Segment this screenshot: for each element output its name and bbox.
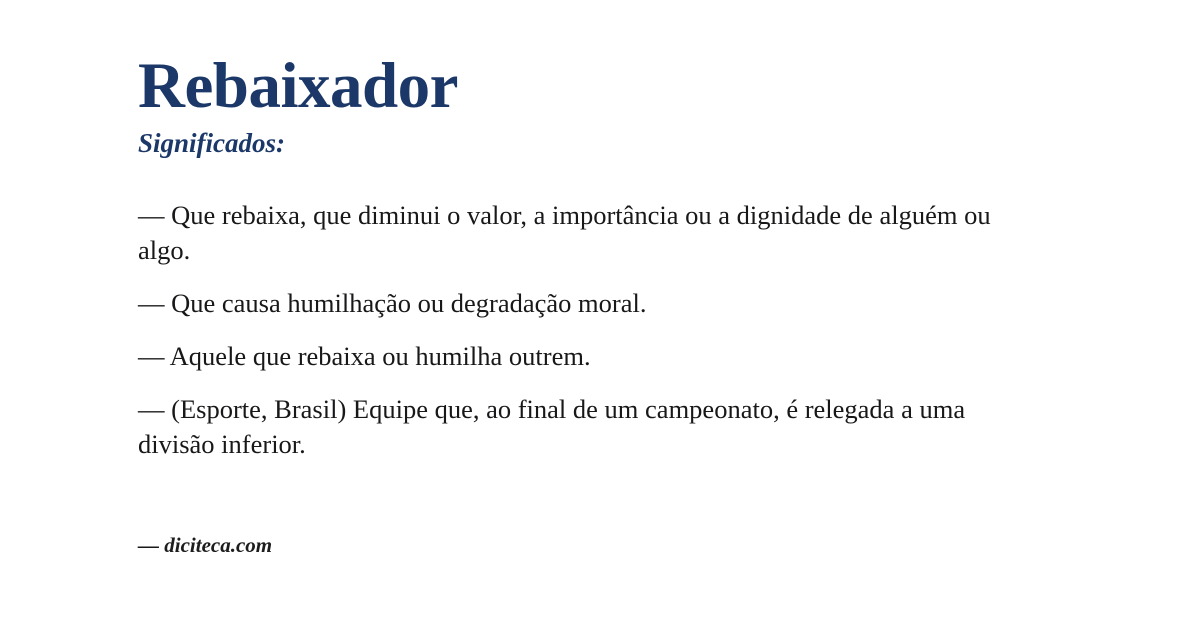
subtitle-label: Significados: <box>138 128 285 159</box>
page-title: Rebaixador <box>138 52 458 120</box>
em-dash-marker: — <box>138 394 165 424</box>
definition-text: (Esporte, Brasil) Equipe que, ao final d… <box>138 394 965 459</box>
list-item: — Que causa humilhação ou degradação mor… <box>138 286 1038 321</box>
source-name: diciteca.com <box>164 533 272 557</box>
en-dash-marker: — <box>138 533 159 557</box>
definition-text: Aquele que rebaixa ou humilha outrem. <box>170 341 591 371</box>
definition-card: Rebaixador Significados: — Que rebaixa, … <box>0 0 1200 628</box>
definition-text: Que rebaixa, que diminui o valor, a impo… <box>138 200 991 265</box>
em-dash-marker: — <box>138 288 165 318</box>
em-dash-marker: — <box>138 341 165 371</box>
em-dash-marker: — <box>138 200 165 230</box>
list-item: — Que rebaixa, que diminui o valor, a im… <box>138 198 1038 268</box>
definitions-list: — Que rebaixa, que diminui o valor, a im… <box>138 198 1038 462</box>
definition-text: Que causa humilhação ou degradação moral… <box>171 288 646 318</box>
list-item: — (Esporte, Brasil) Equipe que, ao final… <box>138 392 1038 462</box>
source-attribution: — diciteca.com <box>138 533 272 558</box>
list-item: — Aquele que rebaixa ou humilha outrem. <box>138 339 1038 374</box>
